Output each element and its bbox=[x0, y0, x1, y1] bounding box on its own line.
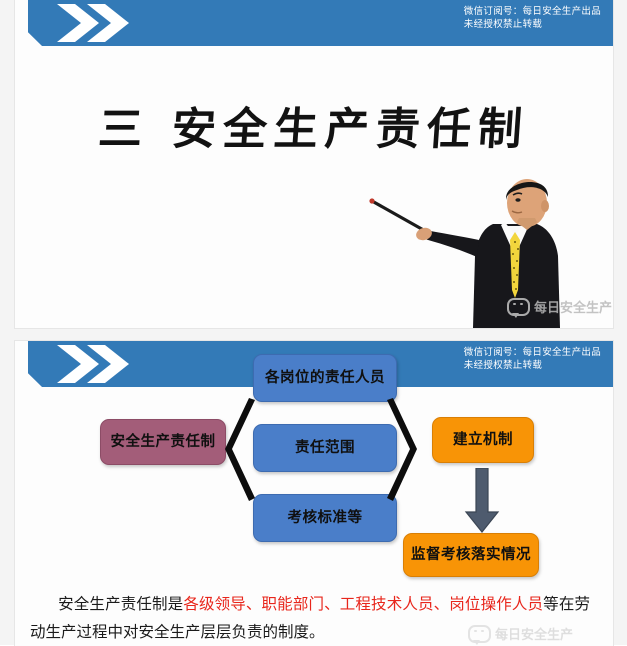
wechat-icon bbox=[507, 298, 530, 316]
diagram-box-roles[interactable]: 各岗位的责任人员 bbox=[253, 354, 397, 402]
slide1-subscription-note: 微信订阅号：每日安全生产出品 未经授权禁止转载 bbox=[464, 5, 601, 31]
diagram-box-safety-responsibility-system[interactable]: 安全生产责任制 bbox=[100, 419, 226, 465]
slide-1: 微信订阅号：每日安全生产出品 未经授权禁止转载 三 安全生产责任制 bbox=[14, 0, 614, 329]
page-title: 三 安全生产责任制 bbox=[14, 93, 614, 157]
watermark-text: 每日安全生产 bbox=[534, 297, 612, 316]
slide2-subscription-note: 微信订阅号：每日安全生产出品 未经授权禁止转载 bbox=[464, 346, 601, 372]
watermark-text: 每日安全生产 bbox=[495, 624, 573, 643]
wechat-watermark: 每日安全生产 bbox=[507, 297, 612, 316]
presentation-page: 微信订阅号：每日安全生产出品 未经授权禁止转载 三 安全生产责任制 bbox=[0, 0, 627, 645]
diagram-box-standard[interactable]: 考核标准等 bbox=[253, 494, 397, 542]
diagram-box-supervise-assessment[interactable]: 监督考核落实情况 bbox=[403, 533, 539, 577]
paragraph-lead: 安全生产责任制是 bbox=[58, 595, 183, 613]
wechat-icon bbox=[468, 625, 491, 643]
diagram-box-scope[interactable]: 责任范围 bbox=[253, 424, 397, 472]
paragraph-highlight: 各级领导、职能部门、工程技术人员、岗位操作人员 bbox=[183, 595, 543, 613]
wechat-watermark: 每日安全生产 bbox=[468, 624, 573, 643]
diagram-box-establish-mechanism[interactable]: 建立机制 bbox=[432, 417, 534, 463]
